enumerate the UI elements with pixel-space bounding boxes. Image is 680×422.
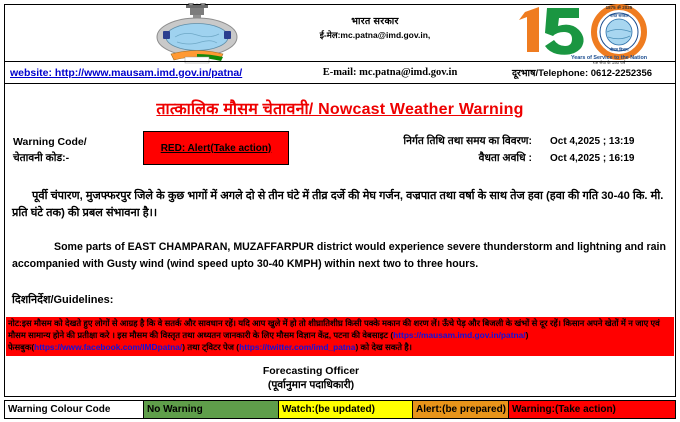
colour-code-title: Warning Colour Code <box>5 401 144 418</box>
nowcast-warning-document: भारत सरकार ई-मेल:mc.patna@imd.gov.in, <box>0 0 680 422</box>
colour-code-watch: Watch:(be updated) <box>279 401 413 418</box>
notice-text-part-1: नोट:इस मौसम को देखते हुए लोगों से आग्रह … <box>8 318 660 340</box>
govt-of-india-hindi: भारत सरकार <box>260 15 490 29</box>
issue-validity-block: निर्गत तिथि तथा समय का विवरण: Oct 4,2025… <box>350 133 675 167</box>
warning-colour-code-legend: Warning Colour Code No Warning Watch:(be… <box>4 400 676 419</box>
warning-code-label-hi: चेतावनी कोड:- <box>13 150 87 166</box>
notice-text-part-3: ) तथा ट्विटर पेज ( <box>182 342 239 352</box>
header-top-row: भारत सरकार ई-मेल:mc.patna@imd.gov.in, <box>5 5 675 63</box>
signature-block: Forecasting Officer (पूर्वानुमान पदाधिका… <box>5 364 675 393</box>
colour-code-alert: Alert:(be prepared) <box>413 401 509 418</box>
validity-label: वैधता अवधि : <box>350 150 532 167</box>
colour-code-warning: Warning:(Take action) <box>509 401 675 418</box>
mausam-website-link[interactable]: https://mausam.imd.gov.in/patna/ <box>393 330 525 340</box>
warning-code-label-en: Warning Code/ <box>13 134 87 150</box>
twitter-link[interactable]: https://twitter.com/imd_patna <box>239 342 355 352</box>
issue-time-row: निर्गत तिथि तथा समय का विवरण: Oct 4,2025… <box>350 133 675 150</box>
status-badge: RED: Alert(Take action) <box>143 131 289 165</box>
warning-paragraph-hindi: पूर्वी चंपारण, मुजफ्फरपुर जिले के कुछ भा… <box>12 188 668 223</box>
imd-emblem-icon <box>145 3 249 65</box>
notice-text-part-4: ) को देख सकते है। <box>355 342 411 352</box>
website-link[interactable]: website: http://www.mausam.imd.gov.in/pa… <box>5 67 291 79</box>
warning-paragraph-english: Some parts of EAST CHAMPARAN, MUZAFFARPU… <box>12 239 668 273</box>
warning-code-label: Warning Code/ चेतावनी कोड:- <box>13 134 87 167</box>
warning-code-value: RED: Alert(Take action) <box>161 143 272 154</box>
guidelines-label: दिशनिर्देश/Guidelines: <box>12 292 675 307</box>
imd-150-years-logo-icon: भारत सरकार मौसम विभाग 1875 ॐ 2025 Years … <box>509 4 673 64</box>
page-title: तात्कालिक मौसम चेतावनी/ Nowcast Weather … <box>5 97 675 119</box>
government-text-block: भारत सरकार ई-मेल:mc.patna@imd.gov.in, <box>260 15 490 41</box>
svg-text:भारत सरकार: भारत सरकार <box>610 13 629 18</box>
header-telephone-label: दूरभाष/Telephone: 0612-2252356 <box>489 66 675 79</box>
facebook-link[interactable]: https://www.facebook.com/IMDpatna/ <box>34 342 182 352</box>
validity-value: Oct 4,2025 ; 16:19 <box>532 151 635 167</box>
svg-text:मौसम विभाग: मौसम विभाग <box>609 47 630 52</box>
issue-time-label: निर्गत तिथि तथा समय का विवरण: <box>350 133 532 150</box>
header-email-label: E-mail: mc.patna@imd.gov.in <box>291 67 489 78</box>
header-contact-strip: website: http://www.mausam.imd.gov.in/pa… <box>5 61 675 83</box>
issue-time-value: Oct 4,2025 ; 13:19 <box>532 134 635 150</box>
document-header: भारत सरकार ई-मेल:mc.patna@imd.gov.in, <box>4 4 676 84</box>
colour-code-no-warning: No Warning <box>144 401 279 418</box>
warning-code-row: Warning Code/ चेतावनी कोड:- RED: Alert(T… <box>5 130 675 182</box>
validity-row: वैधता अवधि : Oct 4,2025 ; 16:19 <box>350 150 675 167</box>
forecasting-officer-en: Forecasting Officer <box>5 364 617 378</box>
guidelines-notice-block: नोट:इस मौसम को देखते हुए लोगों से आग्रह … <box>6 317 674 356</box>
header-email-hindi: ई-मेल:mc.patna@imd.gov.in, <box>260 29 490 41</box>
logo-years-text: 1875 ॐ 2025 <box>606 5 633 10</box>
document-body: तात्कालिक मौसम चेतावनी/ Nowcast Weather … <box>4 84 676 397</box>
forecasting-officer-hi: (पूर्वानुमान पदाधिकारी) <box>5 378 617 392</box>
